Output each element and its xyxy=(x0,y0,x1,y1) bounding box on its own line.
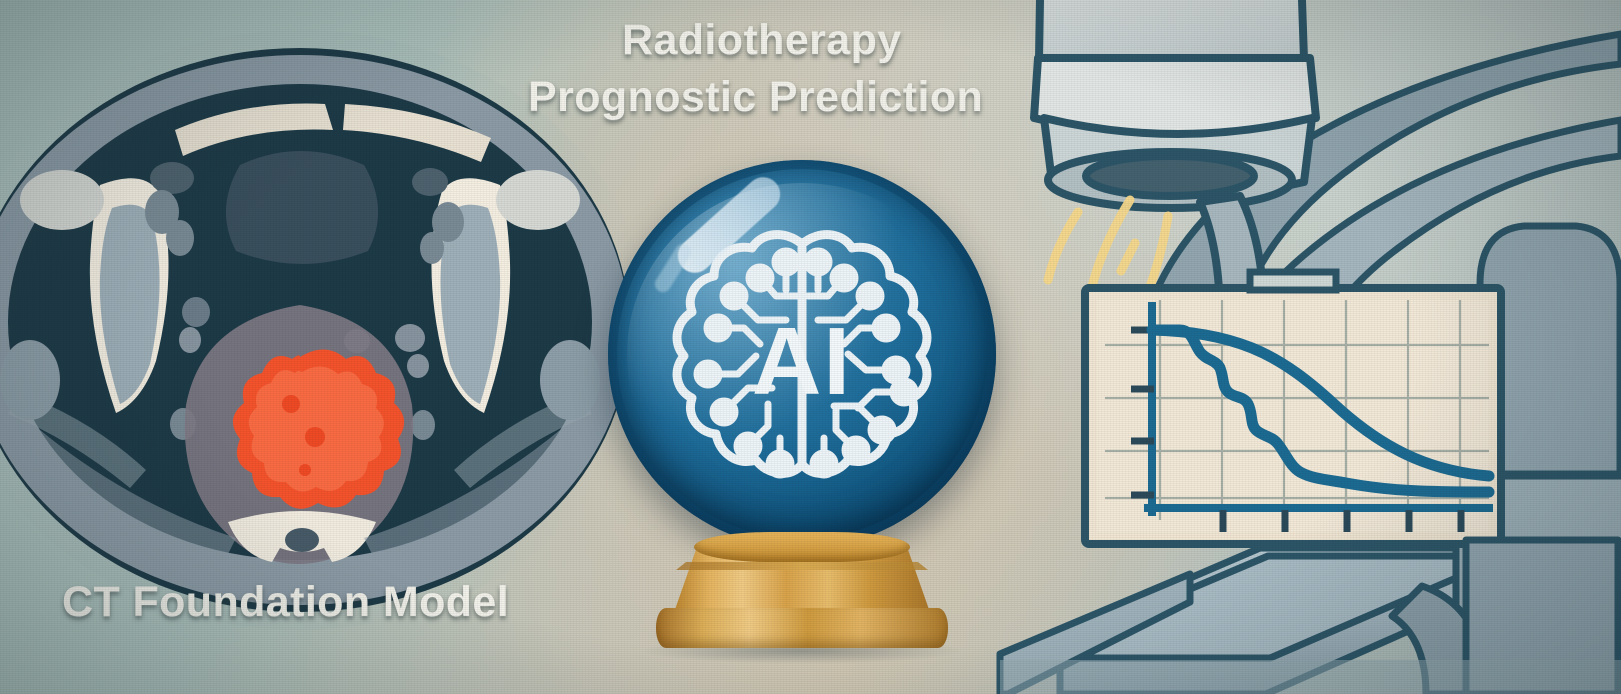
pedestal-foot xyxy=(656,608,948,648)
floor-band xyxy=(1000,660,1621,694)
page-title-line2: Prognostic Prediction xyxy=(528,73,983,122)
crystal-ball: AI xyxy=(600,160,1000,694)
beam-aperture xyxy=(1086,156,1254,196)
page-title-line1: Radiotherapy xyxy=(622,16,902,65)
pedestal-ring xyxy=(676,562,928,570)
ai-label: AI xyxy=(752,308,852,415)
banner-figure: AI Radiotherapy Prognostic Prediction CT… xyxy=(0,0,1621,694)
ct-caption: CT Foundation Model xyxy=(62,578,509,627)
pedestal-collar xyxy=(694,532,910,562)
crystal-ball-sphere: AI xyxy=(608,160,996,548)
crystal-ball-pedestal xyxy=(636,532,968,650)
display-monitor xyxy=(1085,272,1501,544)
